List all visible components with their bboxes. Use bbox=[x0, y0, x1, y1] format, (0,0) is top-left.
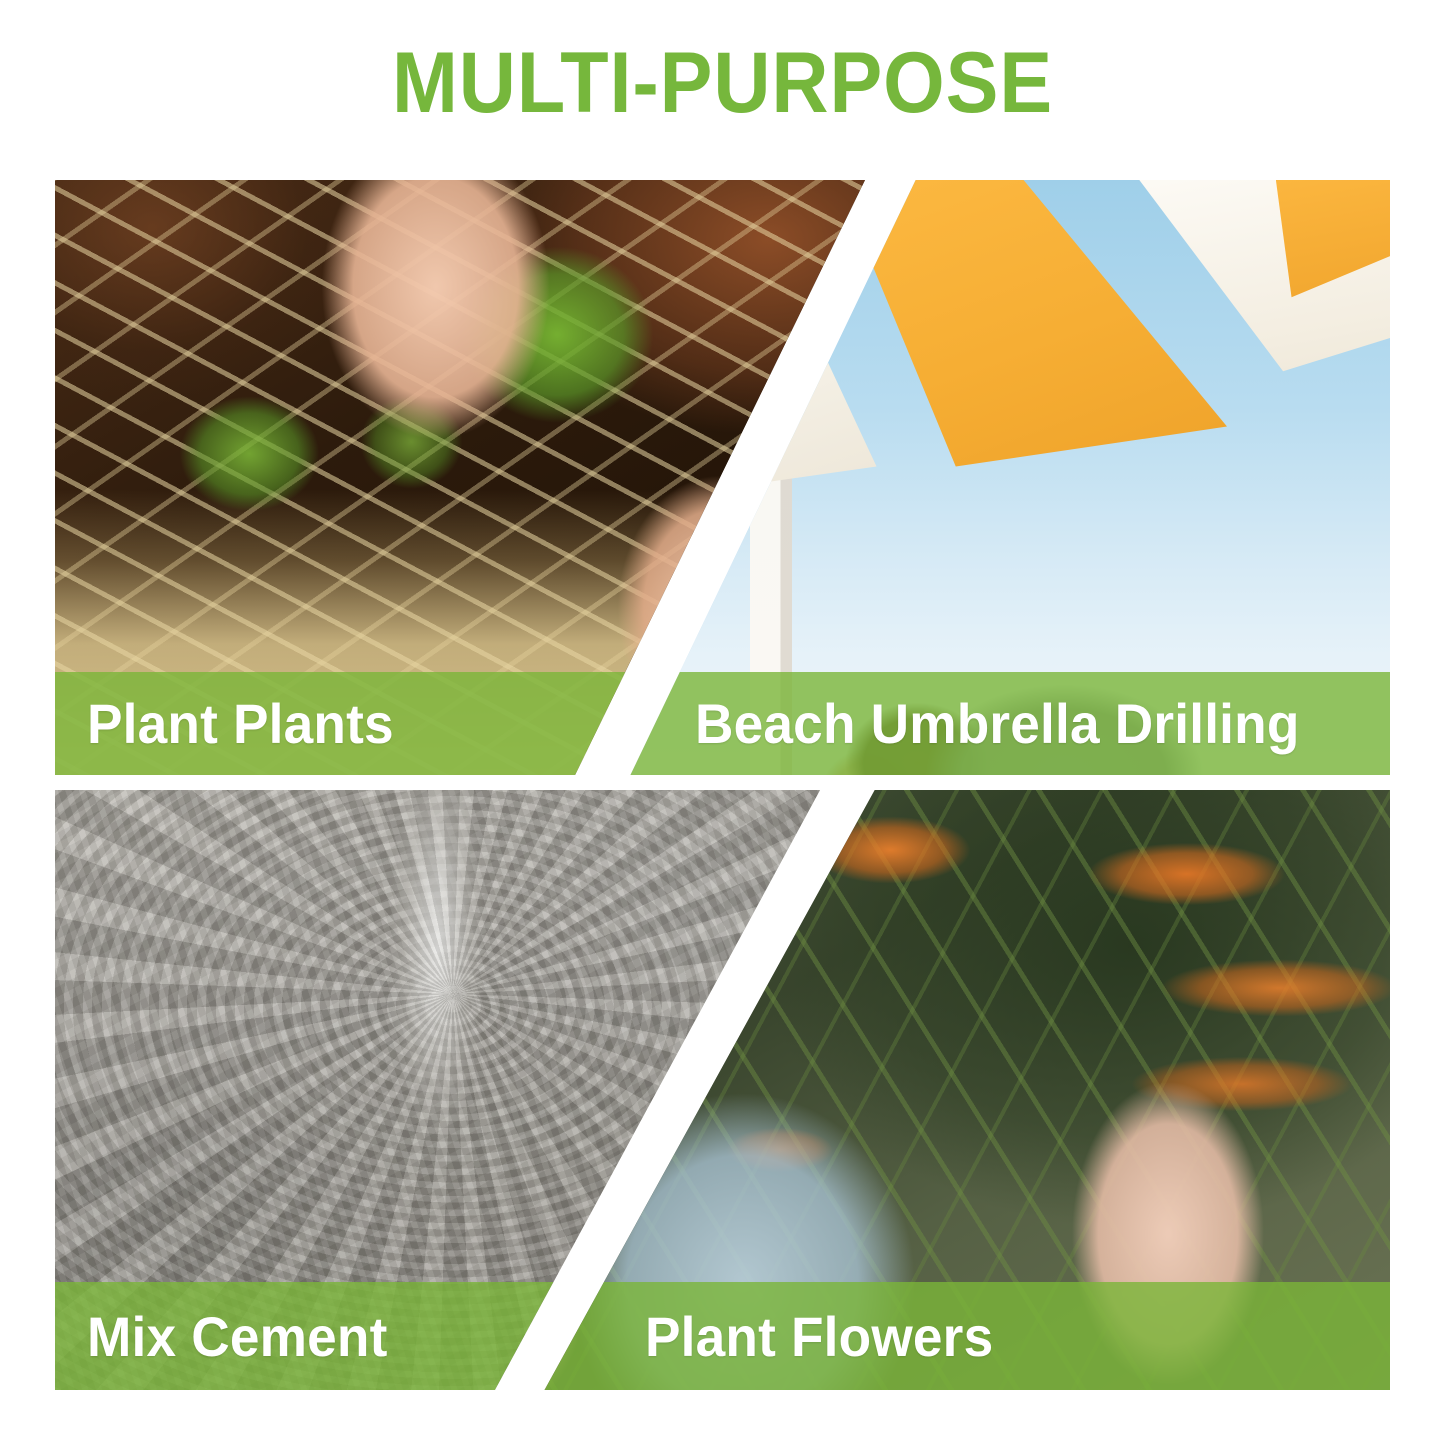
collage-grid: Plant Plants Beach Umbrella Drilling bbox=[55, 180, 1390, 1390]
caption-plant-plants: Plant Plants bbox=[87, 691, 394, 756]
page-title: MULTI-PURPOSE bbox=[58, 34, 1387, 133]
caption-beach-umbrella-drilling: Beach Umbrella Drilling bbox=[695, 691, 1300, 756]
beach-umbrella-label-band: Beach Umbrella Drilling bbox=[575, 672, 1390, 775]
caption-mix-cement: Mix Cement bbox=[87, 1304, 387, 1369]
caption-plant-flowers: Plant Flowers bbox=[645, 1304, 993, 1369]
collage-row-bottom: Mix Cement Plant Flowers bbox=[55, 790, 1390, 1390]
plant-flowers-label-band: Plant Flowers bbox=[465, 1282, 1390, 1390]
collage-row-top: Plant Plants Beach Umbrella Drilling bbox=[55, 180, 1390, 775]
product-feature-collage: MULTI-PURPOSE Plant Plants bbox=[0, 0, 1445, 1445]
